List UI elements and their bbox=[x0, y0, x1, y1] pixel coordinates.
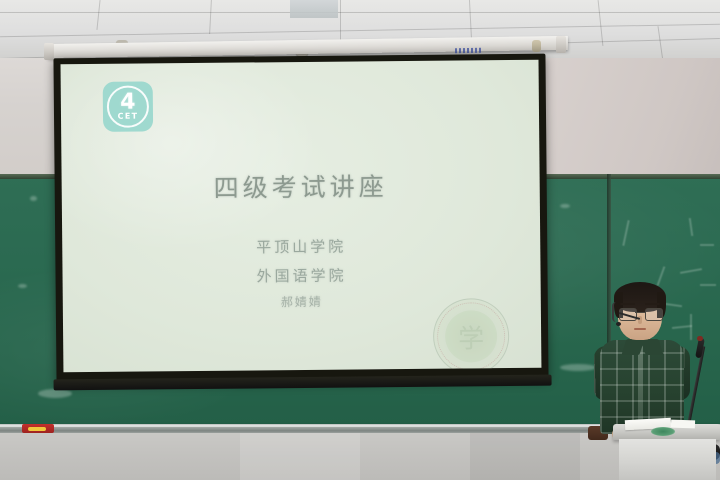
presentation-slide: 4 CET 四级考试讲座 平顶山学院 外国语学院 郝婧婧 学 bbox=[61, 60, 542, 373]
projector-glare bbox=[61, 60, 323, 255]
classroom-photo: 4 CET 四级考试讲座 平顶山学院 外国语学院 郝婧婧 学 bbox=[0, 0, 720, 480]
microphone-indicator bbox=[697, 336, 703, 341]
podium-papers-secondary[interactable] bbox=[671, 420, 695, 429]
cet-logo-ring: 4 CET bbox=[107, 85, 149, 127]
slide-subtitle-department: 外国语学院 bbox=[62, 263, 540, 289]
ceiling-vent bbox=[290, 0, 338, 18]
headset-microphone-tip bbox=[616, 322, 621, 326]
projection-screen: 4 CET 四级考试讲座 平顶山学院 外国语学院 郝婧婧 学 bbox=[53, 54, 548, 384]
cet-logo-label: CET bbox=[118, 111, 139, 120]
chalk-box[interactable] bbox=[22, 424, 54, 433]
eyeglass-bridge bbox=[635, 312, 645, 313]
podium bbox=[613, 424, 720, 480]
shirt-placket bbox=[638, 342, 643, 430]
right-wall bbox=[520, 58, 720, 186]
podium-body bbox=[619, 439, 716, 480]
university-seal-watermark: 学 bbox=[433, 298, 510, 372]
seal-outer-ring bbox=[437, 302, 506, 371]
roller-end-cap bbox=[556, 36, 566, 53]
cet-logo-number: 4 bbox=[120, 93, 135, 111]
eyeglass-lens-right bbox=[645, 308, 663, 321]
podium-emblem bbox=[651, 427, 675, 436]
roller-brand-label bbox=[455, 48, 481, 53]
slide-subtitle-university: 平顶山学院 bbox=[62, 234, 540, 260]
pull-cord-knob[interactable] bbox=[532, 40, 541, 52]
slide-title: 四级考试讲座 bbox=[62, 166, 540, 207]
cet-logo: 4 CET bbox=[103, 81, 153, 131]
